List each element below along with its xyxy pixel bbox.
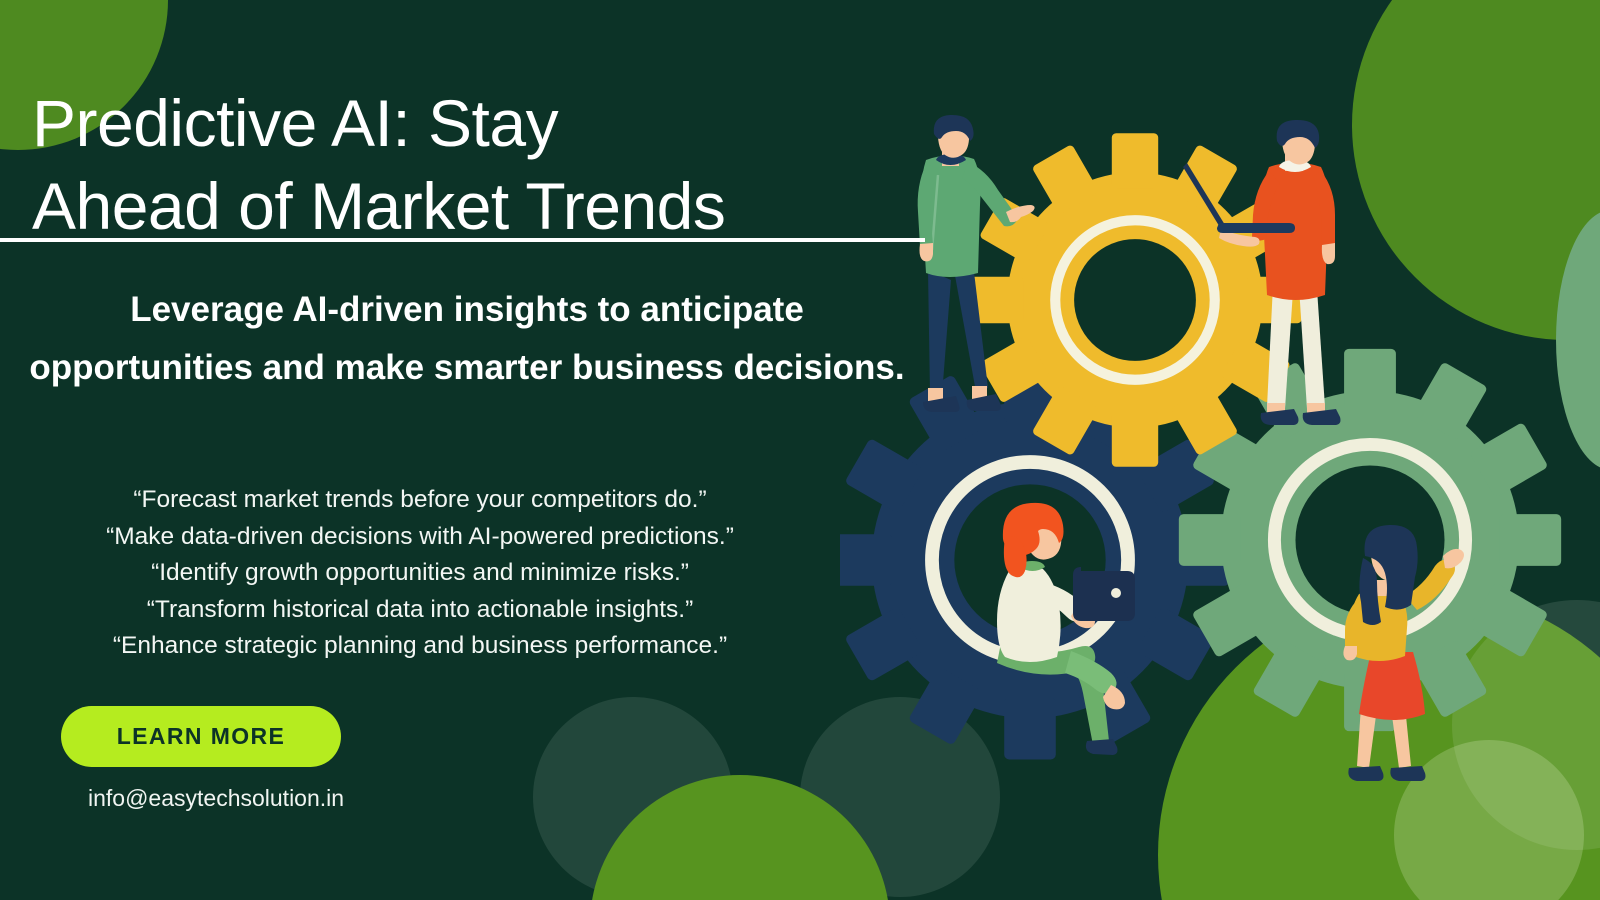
quote-list: “Forecast market trends before your comp… (20, 482, 820, 665)
title-divider (0, 238, 925, 242)
subheadline: Leverage AI-driven insights to anticipat… (22, 281, 912, 398)
teamwork-gears-illustration (840, 0, 1600, 900)
list-item: “Make data-driven decisions with AI-powe… (20, 519, 820, 556)
text-column: Predictive AI: Stay Ahead of Market Tren… (0, 0, 930, 900)
promotional-banner: Predictive AI: Stay Ahead of Market Tren… (0, 0, 1600, 900)
list-item: “Transform historical data into actionab… (20, 592, 820, 629)
contact-email[interactable]: info@easytechsolution.in (88, 785, 344, 812)
page-title: Predictive AI: Stay Ahead of Market Tren… (32, 82, 922, 247)
learn-more-button[interactable]: LEARN MORE (61, 706, 341, 767)
list-item: “Forecast market trends before your comp… (20, 482, 820, 519)
list-item: “Enhance strategic planning and business… (20, 628, 820, 665)
list-item: “Identify growth opportunities and minim… (20, 555, 820, 592)
